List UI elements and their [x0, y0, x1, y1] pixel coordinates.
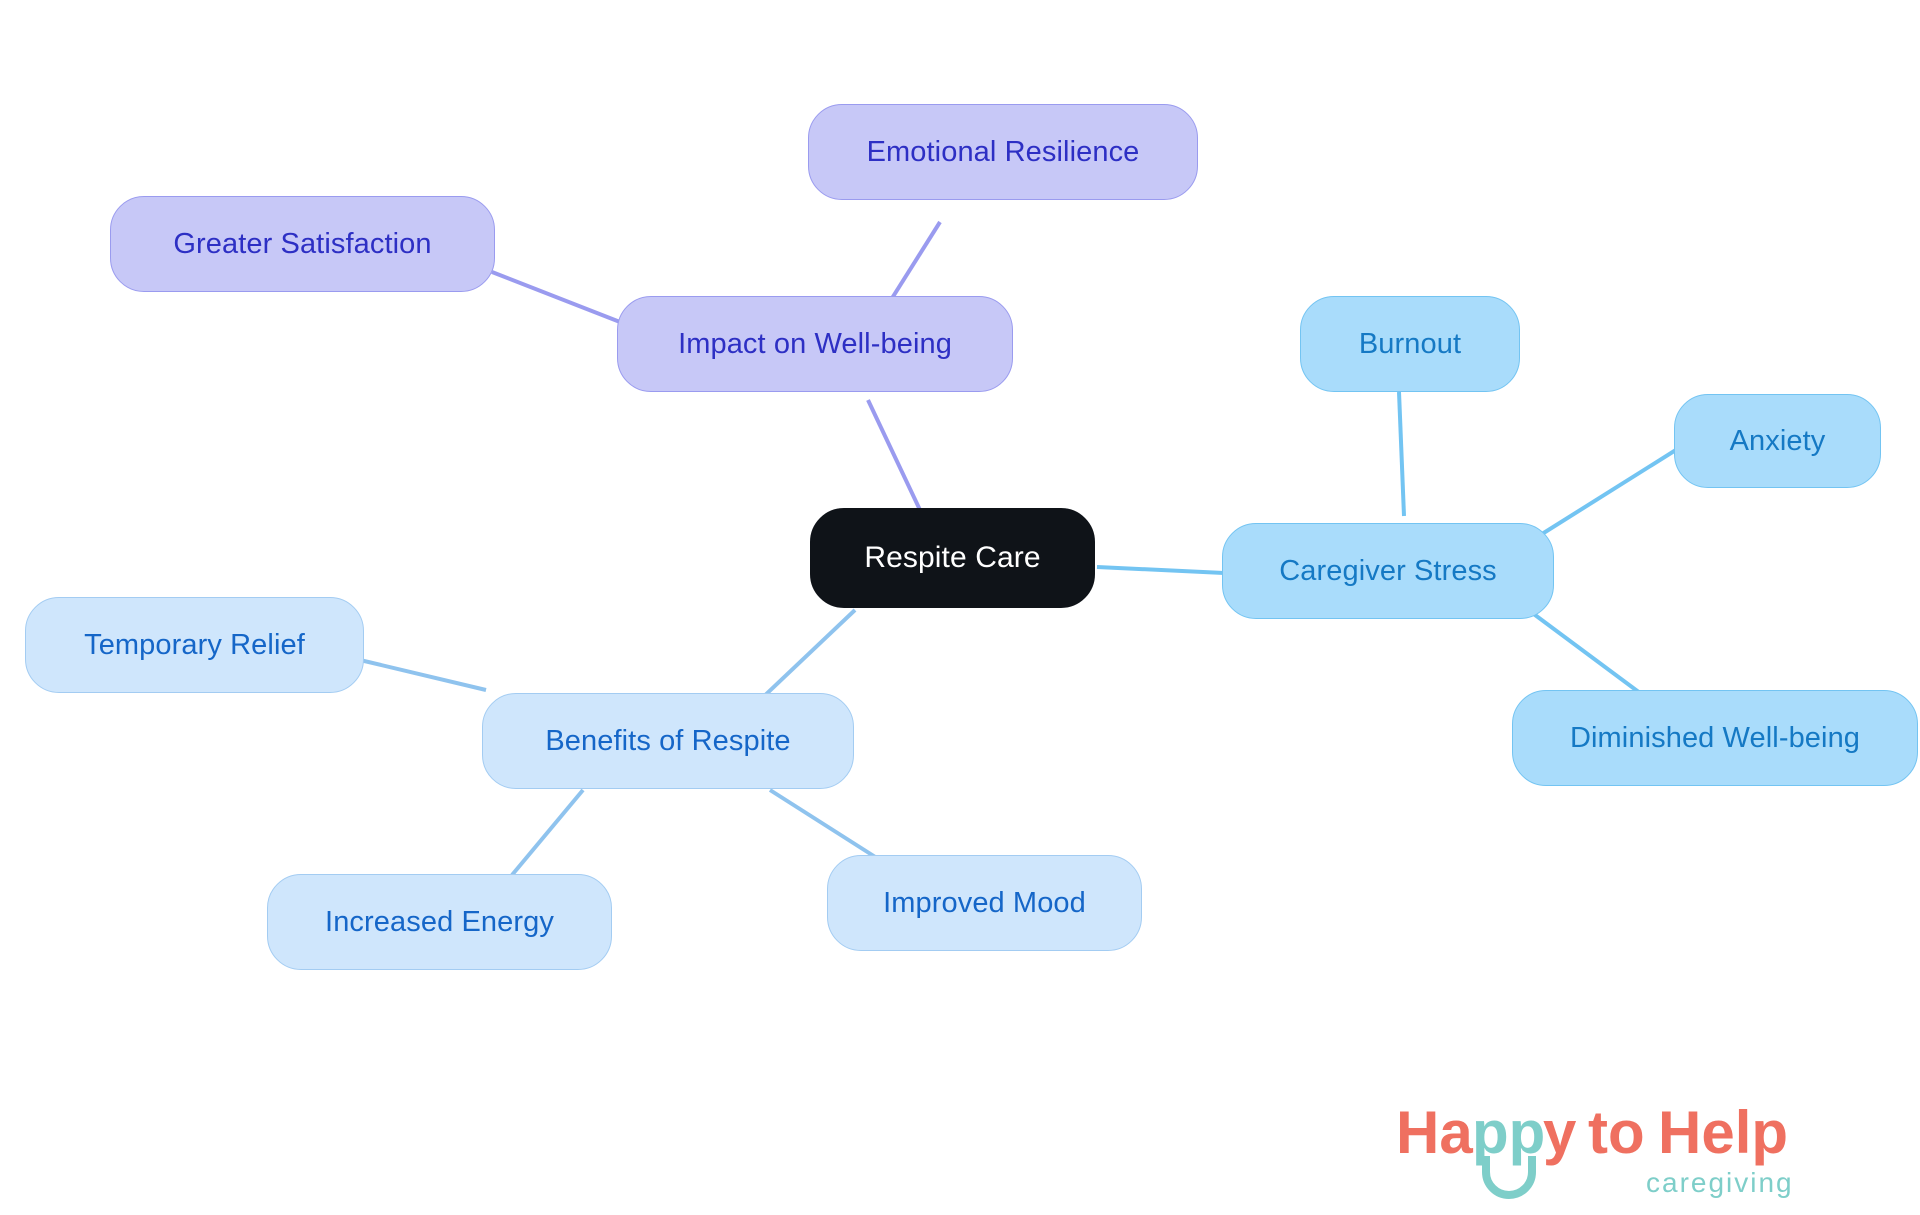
logo-happy-part2: pp [1472, 1099, 1545, 1166]
node-improved-mood[interactable]: Improved Mood [827, 855, 1142, 951]
node-impact-on-well-being[interactable]: Impact on Well-being [617, 296, 1013, 392]
node-emotional-resilience[interactable]: Emotional Resilience [808, 104, 1198, 200]
node-label: Greater Satisfaction [173, 228, 431, 261]
logo-happy-part1: Ha [1396, 1099, 1473, 1166]
happy-to-help-caregiving-logo: Ha pp y to Help caregiving [1396, 1098, 1896, 1206]
node-benefits-of-respite[interactable]: Benefits of Respite [482, 693, 854, 789]
node-anxiety[interactable]: Anxiety [1674, 394, 1881, 488]
logo-tagline: caregiving [1646, 1167, 1794, 1198]
edge-caregiver-stress-to-anxiety [1542, 448, 1679, 534]
node-label: Benefits of Respite [545, 725, 790, 758]
edge-benefits-to-increased-energy [512, 790, 583, 875]
edge-benefits-to-temporary-relief [360, 660, 486, 690]
edge-caregiver-stress-to-diminished-well-being [1527, 609, 1640, 693]
logo-happy-part3: y [1543, 1099, 1577, 1166]
node-label: Respite Care [864, 541, 1040, 575]
node-label: Increased Energy [325, 906, 554, 939]
node-label: Caregiver Stress [1279, 555, 1497, 588]
edge-root-to-caregiver-stress [1097, 567, 1224, 573]
node-temporary-relief[interactable]: Temporary Relief [25, 597, 364, 693]
node-respite-care[interactable]: Respite Care [810, 508, 1095, 608]
mindmap-canvas: Respite Care Impact on Well-being Emotio… [0, 0, 1920, 1215]
edge-benefits-to-improved-mood [770, 790, 880, 860]
edge-root-to-impact [868, 400, 920, 510]
node-label: Impact on Well-being [678, 328, 952, 361]
logo-word-help: Help [1658, 1099, 1788, 1166]
node-label: Improved Mood [883, 887, 1086, 920]
node-burnout[interactable]: Burnout [1300, 296, 1520, 392]
edge-impact-to-greater-satisfaction [492, 272, 620, 322]
node-label: Burnout [1359, 328, 1461, 361]
edge-root-to-benefits [760, 610, 855, 700]
node-diminished-well-being[interactable]: Diminished Well-being [1512, 690, 1918, 786]
edge-caregiver-stress-to-burnout [1399, 392, 1404, 516]
node-caregiver-stress[interactable]: Caregiver Stress [1222, 523, 1554, 619]
logo-word-to: to [1588, 1099, 1645, 1166]
node-label: Emotional Resilience [867, 136, 1140, 169]
node-label: Temporary Relief [84, 629, 305, 662]
node-greater-satisfaction[interactable]: Greater Satisfaction [110, 196, 495, 292]
node-label: Anxiety [1730, 425, 1826, 458]
node-increased-energy[interactable]: Increased Energy [267, 874, 612, 970]
node-label: Diminished Well-being [1570, 722, 1860, 755]
